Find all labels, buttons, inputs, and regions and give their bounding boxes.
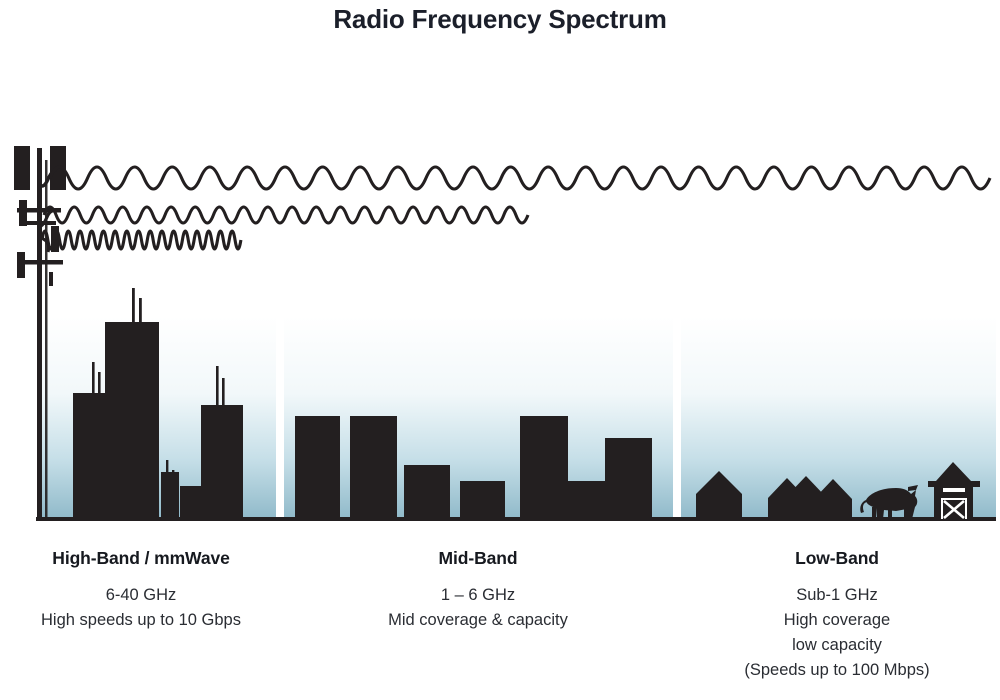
radio-wave-icon-high-band	[42, 231, 241, 249]
radio-wave-icon-mid-band	[44, 207, 528, 223]
radio-wave-icon-low-band	[50, 167, 990, 189]
band-detail-line: Mid coverage & capacity	[283, 608, 673, 633]
building-icon	[520, 416, 568, 520]
building-icon	[605, 438, 652, 520]
skyscraper-spire	[139, 298, 142, 324]
band-detail-line: Sub-1 GHz	[674, 583, 1000, 608]
mast-stub	[49, 272, 53, 286]
radio-wave-icon-group	[42, 167, 990, 249]
band-detail-line: High speeds up to 10 Gbps	[0, 608, 282, 633]
skyscraper-icon	[105, 322, 159, 520]
skyscraper-spire	[216, 366, 219, 408]
band-caption-mid-band: Mid-Band 1 – 6 GHz Mid coverage & capaci…	[283, 548, 673, 633]
building-icon	[295, 416, 340, 520]
antenna-panel-mid-left	[19, 200, 27, 226]
building-icon	[404, 465, 450, 520]
band-details-low-band: Sub-1 GHz High coverage low capacity (Sp…	[674, 583, 1000, 683]
band-name-mid-band: Mid-Band	[283, 548, 673, 569]
skyscraper-icon	[161, 472, 179, 520]
skyscraper-icon	[201, 405, 243, 520]
band-name-low-band: Low-Band	[674, 548, 1000, 569]
band-detail-line: low capacity	[674, 633, 1000, 658]
skyscraper-spire	[222, 378, 225, 408]
skyscraper-spire	[92, 362, 95, 394]
band-detail-line: High coverage	[674, 608, 1000, 633]
band-caption-high-band: High-Band / mmWave 6-40 GHz High speeds …	[0, 548, 282, 633]
band-caption-low-band: Low-Band Sub-1 GHz High coverage low cap…	[674, 548, 1000, 683]
antenna-panel-low-left	[17, 252, 25, 278]
skyscraper-spire	[132, 288, 135, 324]
building-icon	[350, 416, 397, 520]
skyscraper-icon	[73, 393, 105, 520]
band-name-high-band: High-Band / mmWave	[0, 548, 282, 569]
building-icon	[568, 481, 605, 520]
band-detail-line: 6-40 GHz	[0, 583, 282, 608]
band-details-mid-band: 1 – 6 GHz Mid coverage & capacity	[283, 583, 673, 633]
antenna-panel-top-left	[14, 146, 30, 190]
band-detail-line: (Speeds up to 100 Mbps)	[674, 658, 1000, 683]
building-icon	[460, 481, 505, 520]
band-detail-line: 1 – 6 GHz	[283, 583, 673, 608]
skyscraper-spire	[98, 372, 101, 394]
band-details-high-band: 6-40 GHz High speeds up to 10 Gbps	[0, 583, 282, 633]
